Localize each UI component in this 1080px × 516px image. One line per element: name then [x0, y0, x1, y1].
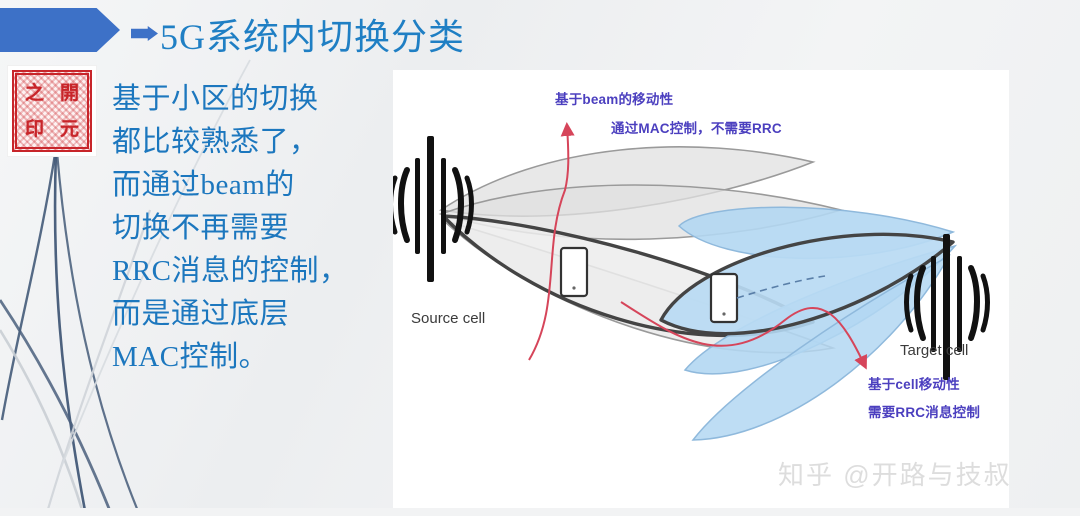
slide-canvas: 5G系统内切换分类 之 開 印 元 基于小区的切换 都比较熟悉了， 而通过bea… [0, 0, 1080, 516]
kaiyuan-seal-stamp: 之 開 印 元 [8, 66, 96, 156]
handover-diagram-panel: 基于beam的移动性 通过MAC控制，不需要RRC 基于cell移动性 需要RR… [393, 70, 1009, 508]
source-cell-label: Source cell [411, 310, 485, 327]
body-line: 而通过beam的 [112, 164, 402, 207]
body-line: RRC消息的控制， [112, 250, 402, 293]
body-line: MAC控制。 [112, 336, 402, 379]
page-title: 5G系统内切换分类 [160, 8, 465, 60]
body-line: 切换不再需要 [112, 207, 402, 250]
seal-char-4: 元 [60, 120, 79, 139]
body-line: 都比较熟悉了， [112, 121, 402, 164]
seal-char-1: 之 [25, 84, 44, 103]
bullet-arrow-icon [131, 26, 158, 41]
bottom-bar [0, 508, 1080, 516]
body-line: 基于小区的切换 [112, 78, 402, 121]
title-banner-chevron [0, 8, 120, 52]
source-antenna-icon [393, 136, 472, 282]
annotation-beam-detail: 通过MAC控制，不需要RRC [611, 117, 782, 137]
annotation-cell-title: 基于cell移动性 [868, 373, 960, 393]
annotation-beam-title: 基于beam的移动性 [555, 88, 673, 108]
body-paragraph: 基于小区的切换 都比较熟悉了， 而通过beam的 切换不再需要 RRC消息的控制… [112, 78, 402, 379]
target-cell-label: Target cell [900, 342, 968, 359]
body-line: 而是通过底层 [112, 293, 402, 336]
annotation-cell-detail: 需要RRC消息控制 [868, 401, 980, 421]
seal-char-2: 開 [60, 84, 79, 103]
watermark: 知乎 @开路与技叔 [778, 455, 1012, 492]
seal-char-3: 印 [25, 120, 44, 139]
